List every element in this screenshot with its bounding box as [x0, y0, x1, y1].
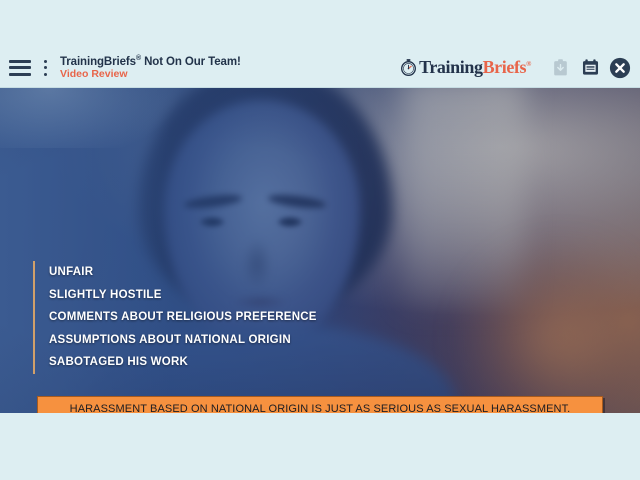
notes-icon[interactable]: [579, 57, 601, 79]
hamburger-line: [9, 73, 31, 76]
stopwatch-icon: [399, 58, 418, 77]
callout-text: HARASSMENT BASED ON NATIONAL ORIGIN IS J…: [70, 403, 571, 413]
list-item: COMMENTS ABOUT RELIGIOUS PREFERENCE: [49, 306, 317, 329]
kebab-dot: [44, 66, 47, 69]
kebab-menu-icon[interactable]: [40, 60, 50, 76]
page-title-brand: TrainingBriefs: [60, 55, 136, 67]
header-actions: [541, 57, 631, 79]
video-player-page: TrainingBriefs® Not On Our Team! Video R…: [0, 0, 640, 480]
close-icon[interactable]: [609, 57, 631, 79]
brand-logo: TrainingBriefs®: [399, 57, 531, 78]
brand-registered-symbol: ®: [526, 60, 531, 68]
brand-word-briefs: Briefs: [483, 57, 527, 77]
kebab-dot: [44, 60, 47, 63]
hamburger-icon[interactable]: [9, 60, 31, 76]
hamburger-line: [9, 66, 31, 69]
list-item: SABOTAGED HIS WORK: [49, 351, 317, 374]
list-item: SLIGHTLY HOSTILE: [49, 284, 317, 307]
player-header: TrainingBriefs® Not On Our Team! Video R…: [0, 48, 640, 88]
hamburger-line: [9, 60, 31, 63]
download-icon[interactable]: [549, 57, 571, 79]
kebab-dot: [44, 73, 47, 76]
bullet-list: UNFAIR SLIGHTLY HOSTILE COMMENTS ABOUT R…: [33, 261, 317, 374]
header-title-block: TrainingBriefs® Not On Our Team! Video R…: [60, 55, 241, 81]
brand-word-training: Training: [419, 57, 482, 77]
brand-wordmark: TrainingBriefs®: [419, 57, 531, 78]
callout-banner: HARASSMENT BASED ON NATIONAL ORIGIN IS J…: [37, 396, 603, 413]
page-subtitle: Video Review: [60, 69, 241, 80]
page-title-rest: Not On Our Team!: [141, 55, 241, 67]
list-item: UNFAIR: [49, 261, 317, 284]
list-item: ASSUMPTIONS ABOUT NATIONAL ORIGIN: [49, 329, 317, 352]
video-stage[interactable]: UNFAIR SLIGHTLY HOSTILE COMMENTS ABOUT R…: [0, 88, 640, 413]
page-title: TrainingBriefs® Not On Our Team!: [60, 55, 241, 68]
